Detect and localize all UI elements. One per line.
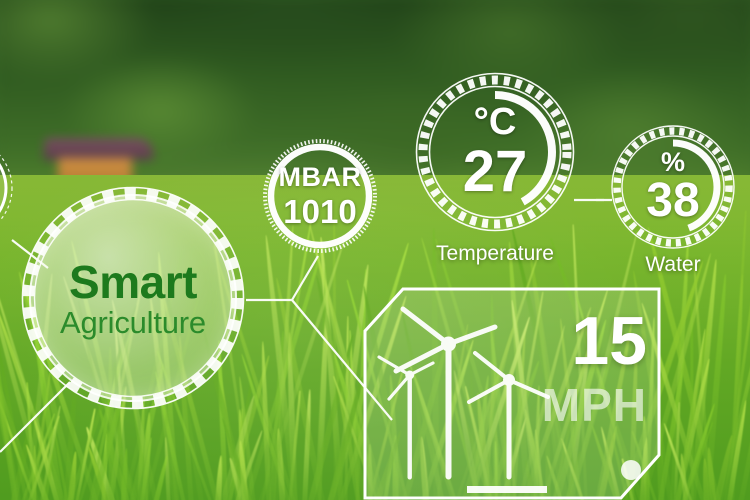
temperature-face: °C 27 — [414, 71, 576, 233]
water-face: % 38 — [610, 124, 736, 250]
temperature-unit: °C — [474, 103, 517, 141]
temperature-label: Temperature — [414, 242, 576, 266]
edge-gauge-partial — [0, 136, 14, 240]
water-value: 38 — [646, 177, 699, 225]
dashboard-scene: Smart Agriculture MBAR 1010 °C 27 Temper… — [0, 0, 750, 500]
wind-panel-frame — [363, 287, 661, 500]
brand-line-1: Smart — [69, 259, 197, 305]
temperature-gauge[interactable]: °C 27 — [414, 71, 576, 233]
pressure-face: MBAR 1010 — [262, 138, 378, 254]
pressure-gauge[interactable]: MBAR 1010 — [262, 138, 378, 254]
brand-line-2: Agriculture — [60, 307, 206, 338]
badge-text: Smart Agriculture — [20, 185, 246, 411]
smart-agriculture-badge[interactable]: Smart Agriculture — [20, 185, 246, 411]
pressure-unit: MBAR — [279, 164, 362, 191]
water-label: Water — [610, 253, 736, 277]
water-gauge[interactable]: % 38 — [610, 124, 736, 250]
pressure-value: 1010 — [283, 195, 356, 228]
water-unit: % — [661, 149, 685, 176]
wind-speed-panel[interactable]: 15 MPH — [363, 287, 661, 500]
temperature-value: 27 — [463, 143, 528, 201]
